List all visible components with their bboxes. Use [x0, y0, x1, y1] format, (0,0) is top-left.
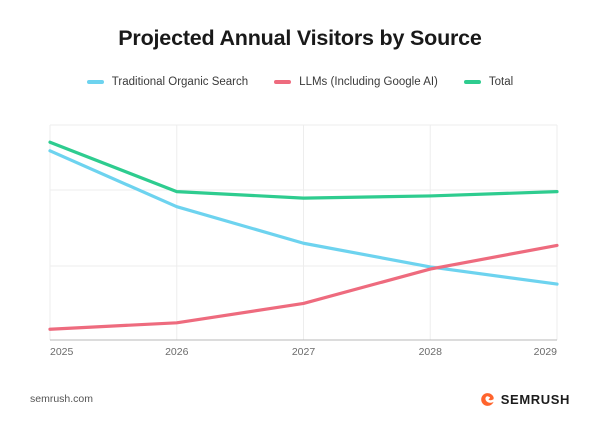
x-axis-tick-labels: 20252026202720282029 [0, 346, 600, 362]
plot-area: 20252026202720282029 [0, 0, 600, 423]
x-axis-tick-label: 2028 [419, 346, 442, 358]
brand-name: SEMRUSH [501, 392, 570, 407]
x-axis-tick-label: 2027 [292, 346, 315, 358]
semrush-flame-icon [480, 392, 495, 407]
chart-footer: semrush.com SEMRUSH [30, 389, 570, 409]
chart-card: Projected Annual Visitors by Source Trad… [0, 0, 600, 423]
footer-url: semrush.com [30, 393, 93, 405]
x-axis-tick-label: 2029 [534, 346, 557, 358]
grid-lines [50, 125, 557, 340]
x-axis-tick-label: 2026 [165, 346, 188, 358]
x-axis-tick-label: 2025 [50, 346, 73, 358]
brand-logo: SEMRUSH [480, 392, 570, 407]
